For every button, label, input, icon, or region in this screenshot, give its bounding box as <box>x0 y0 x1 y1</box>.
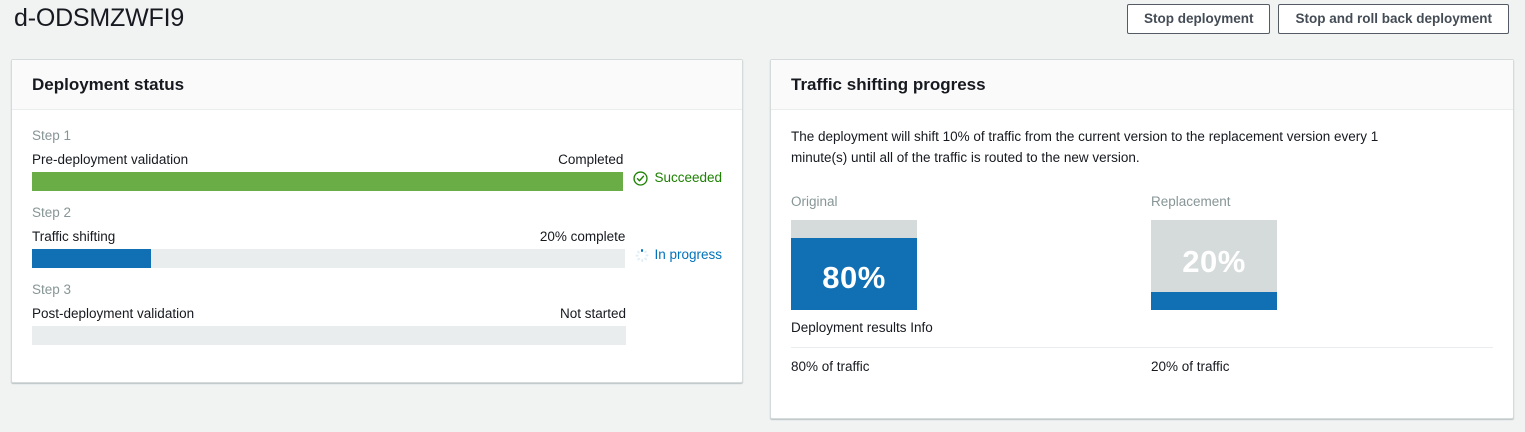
step-progress-text: Not started <box>560 305 626 323</box>
traffic-shifting-progress-panel: Traffic shifting progress The deployment… <box>770 59 1514 419</box>
step-name: Pre-deployment validation <box>32 151 188 169</box>
step-progress-group: Post-deployment validation Not started <box>32 305 626 345</box>
stop-deployment-button[interactable]: Stop deployment <box>1127 4 1271 34</box>
replacement-percent-text: 20% <box>1151 246 1277 277</box>
deployment-status-panel-header: Deployment status <box>12 60 742 110</box>
step-label: Step 2 <box>32 203 722 223</box>
check-circle-icon <box>633 171 648 186</box>
traffic-column-replacement: Replacement 20% <box>1151 192 1277 310</box>
deployment-status-body: Step 1 Pre-deployment validation Complet… <box>12 110 742 345</box>
traffic-bars: Original 80% Replacement 20% <box>791 192 1493 310</box>
step-progress-fill <box>32 249 151 268</box>
deployment-results-row: 80% of traffic 20% of traffic <box>791 359 1493 374</box>
page-title: d-ODSMZWFI9 <box>14 2 184 34</box>
loading-spinner-icon <box>635 249 648 262</box>
step-status-label: In progress <box>654 246 722 264</box>
step-progress-group: Pre-deployment validation Completed <box>32 151 623 191</box>
traffic-column-original: Original 80% <box>791 192 917 310</box>
original-percent-text: 80% <box>791 262 917 293</box>
deployment-results-title: Deployment results Info <box>791 318 1493 348</box>
step-progress-bar <box>32 326 626 345</box>
step-status: In progress <box>635 228 722 264</box>
step-status: Succeeded <box>633 151 722 187</box>
traffic-shifting-title: Traffic shifting progress <box>791 75 986 95</box>
original-label: Original <box>791 192 917 212</box>
original-traffic-result: 80% of traffic <box>791 359 917 374</box>
deployment-status-title: Deployment status <box>32 75 184 95</box>
header-actions: Stop deployment Stop and roll back deplo… <box>1127 4 1509 34</box>
step-progress-fill <box>32 172 623 191</box>
page-header: d-ODSMZWFI9 Stop deployment Stop and rol… <box>0 0 1525 47</box>
step-progress-text: Completed <box>558 151 623 169</box>
original-traffic-bar: 80% <box>791 220 917 310</box>
stop-and-roll-back-deployment-button[interactable]: Stop and roll back deployment <box>1278 4 1509 34</box>
replacement-traffic-result: 20% of traffic <box>1151 359 1277 374</box>
step-label: Step 3 <box>32 280 722 300</box>
step-progress-bar <box>32 249 625 268</box>
step-name: Traffic shifting <box>32 228 115 246</box>
replacement-traffic-fill <box>1151 292 1277 310</box>
deployment-step: Step 3 Post-deployment validation Not st… <box>32 280 722 345</box>
step-progress-bar <box>32 172 623 191</box>
traffic-shifting-panel-header: Traffic shifting progress <box>771 60 1513 110</box>
step-label: Step 1 <box>32 126 722 146</box>
step-name: Post-deployment validation <box>32 305 194 323</box>
replacement-traffic-bar: 20% <box>1151 220 1277 310</box>
deployment-status-panel: Deployment status Step 1 Pre-deployment … <box>11 59 743 383</box>
step-status-label: Succeeded <box>654 169 722 187</box>
step-progress-text: 20% complete <box>540 228 626 246</box>
traffic-shifting-description: The deployment will shift 10% of traffic… <box>791 126 1436 168</box>
traffic-shifting-body: The deployment will shift 10% of traffic… <box>771 110 1513 374</box>
step-progress-group: Traffic shifting 20% complete <box>32 228 625 268</box>
deployment-step: Step 1 Pre-deployment validation Complet… <box>32 126 722 191</box>
deployment-step: Step 2 Traffic shifting 20% complete <box>32 203 722 268</box>
replacement-label: Replacement <box>1151 192 1277 212</box>
